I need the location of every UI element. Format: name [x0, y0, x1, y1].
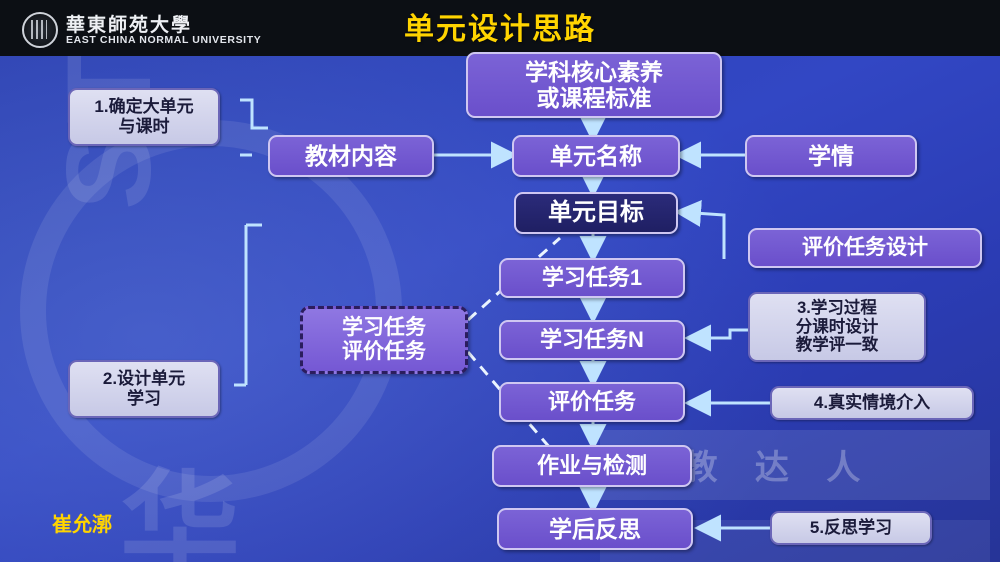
unit-goal-box[interactable]: 单元目标 [514, 192, 678, 234]
step-5-box[interactable]: 5.反思学习 [770, 511, 932, 545]
student-situation-label: 学情 [808, 143, 854, 169]
author-name: 崔允漷 [52, 508, 112, 537]
step-3-line3: 教学评一致 [796, 336, 879, 355]
student-situation-box[interactable]: 学情 [745, 135, 917, 177]
dashed-group-line2: 评价任务 [342, 340, 426, 364]
step-2-line1: 2.设计单元 [103, 369, 185, 389]
after-reflection-label: 学后反思 [549, 516, 641, 542]
eval-task-design-label: 评价任务设计 [802, 236, 928, 260]
homework-test-box[interactable]: 作业与检测 [492, 445, 692, 487]
step-4-box[interactable]: 4.真实情境介入 [770, 386, 974, 420]
homework-test-label: 作业与检测 [537, 453, 647, 478]
step-4-label: 4.真实情境介入 [814, 393, 930, 413]
dashed-group-line1: 学习任务 [342, 316, 426, 340]
after-reflection-box[interactable]: 学后反思 [497, 508, 693, 550]
dashed-task-group-box[interactable]: 学习任务 评价任务 [300, 306, 468, 374]
learning-task-n-box[interactable]: 学习任务N [499, 320, 685, 360]
core-competency-line2: 或课程标准 [537, 85, 652, 111]
step-2-line2: 学习 [127, 389, 161, 409]
textbook-content-box[interactable]: 教材内容 [268, 135, 434, 177]
learning-task-1-label: 学习任务1 [542, 265, 642, 290]
unit-name-label: 单元名称 [550, 143, 642, 169]
learning-task-1-box[interactable]: 学习任务1 [499, 258, 685, 298]
step-3-line2: 分课时设计 [796, 318, 879, 337]
core-competency-box[interactable]: 学科核心素养 或课程标准 [466, 52, 722, 118]
textbook-content-label: 教材内容 [305, 143, 397, 169]
eval-task-box[interactable]: 评价任务 [499, 382, 685, 422]
slide-canvas: ST CHINA 华 立 教 达 人 華東師苑大學 EAST CHINA NOR… [0, 0, 1000, 562]
step-2-box[interactable]: 2.设计单元 学习 [68, 360, 220, 418]
eval-task-label: 评价任务 [548, 389, 636, 414]
step-1-box[interactable]: 1.确定大单元 与课时 [68, 88, 220, 146]
unit-name-box[interactable]: 单元名称 [512, 135, 680, 177]
step-3-box[interactable]: 3.学习过程 分课时设计 教学评一致 [748, 292, 926, 362]
eval-task-design-box[interactable]: 评价任务设计 [748, 228, 982, 268]
learning-task-n-label: 学习任务N [540, 327, 644, 352]
unit-goal-label: 单元目标 [548, 199, 644, 227]
step-5-label: 5.反思学习 [810, 518, 892, 538]
step-3-line1: 3.学习过程 [797, 299, 877, 318]
step-1-line2: 与课时 [119, 117, 170, 137]
step-1-line1: 1.确定大单元 [94, 97, 193, 117]
core-competency-line1: 学科核心素养 [525, 59, 663, 85]
